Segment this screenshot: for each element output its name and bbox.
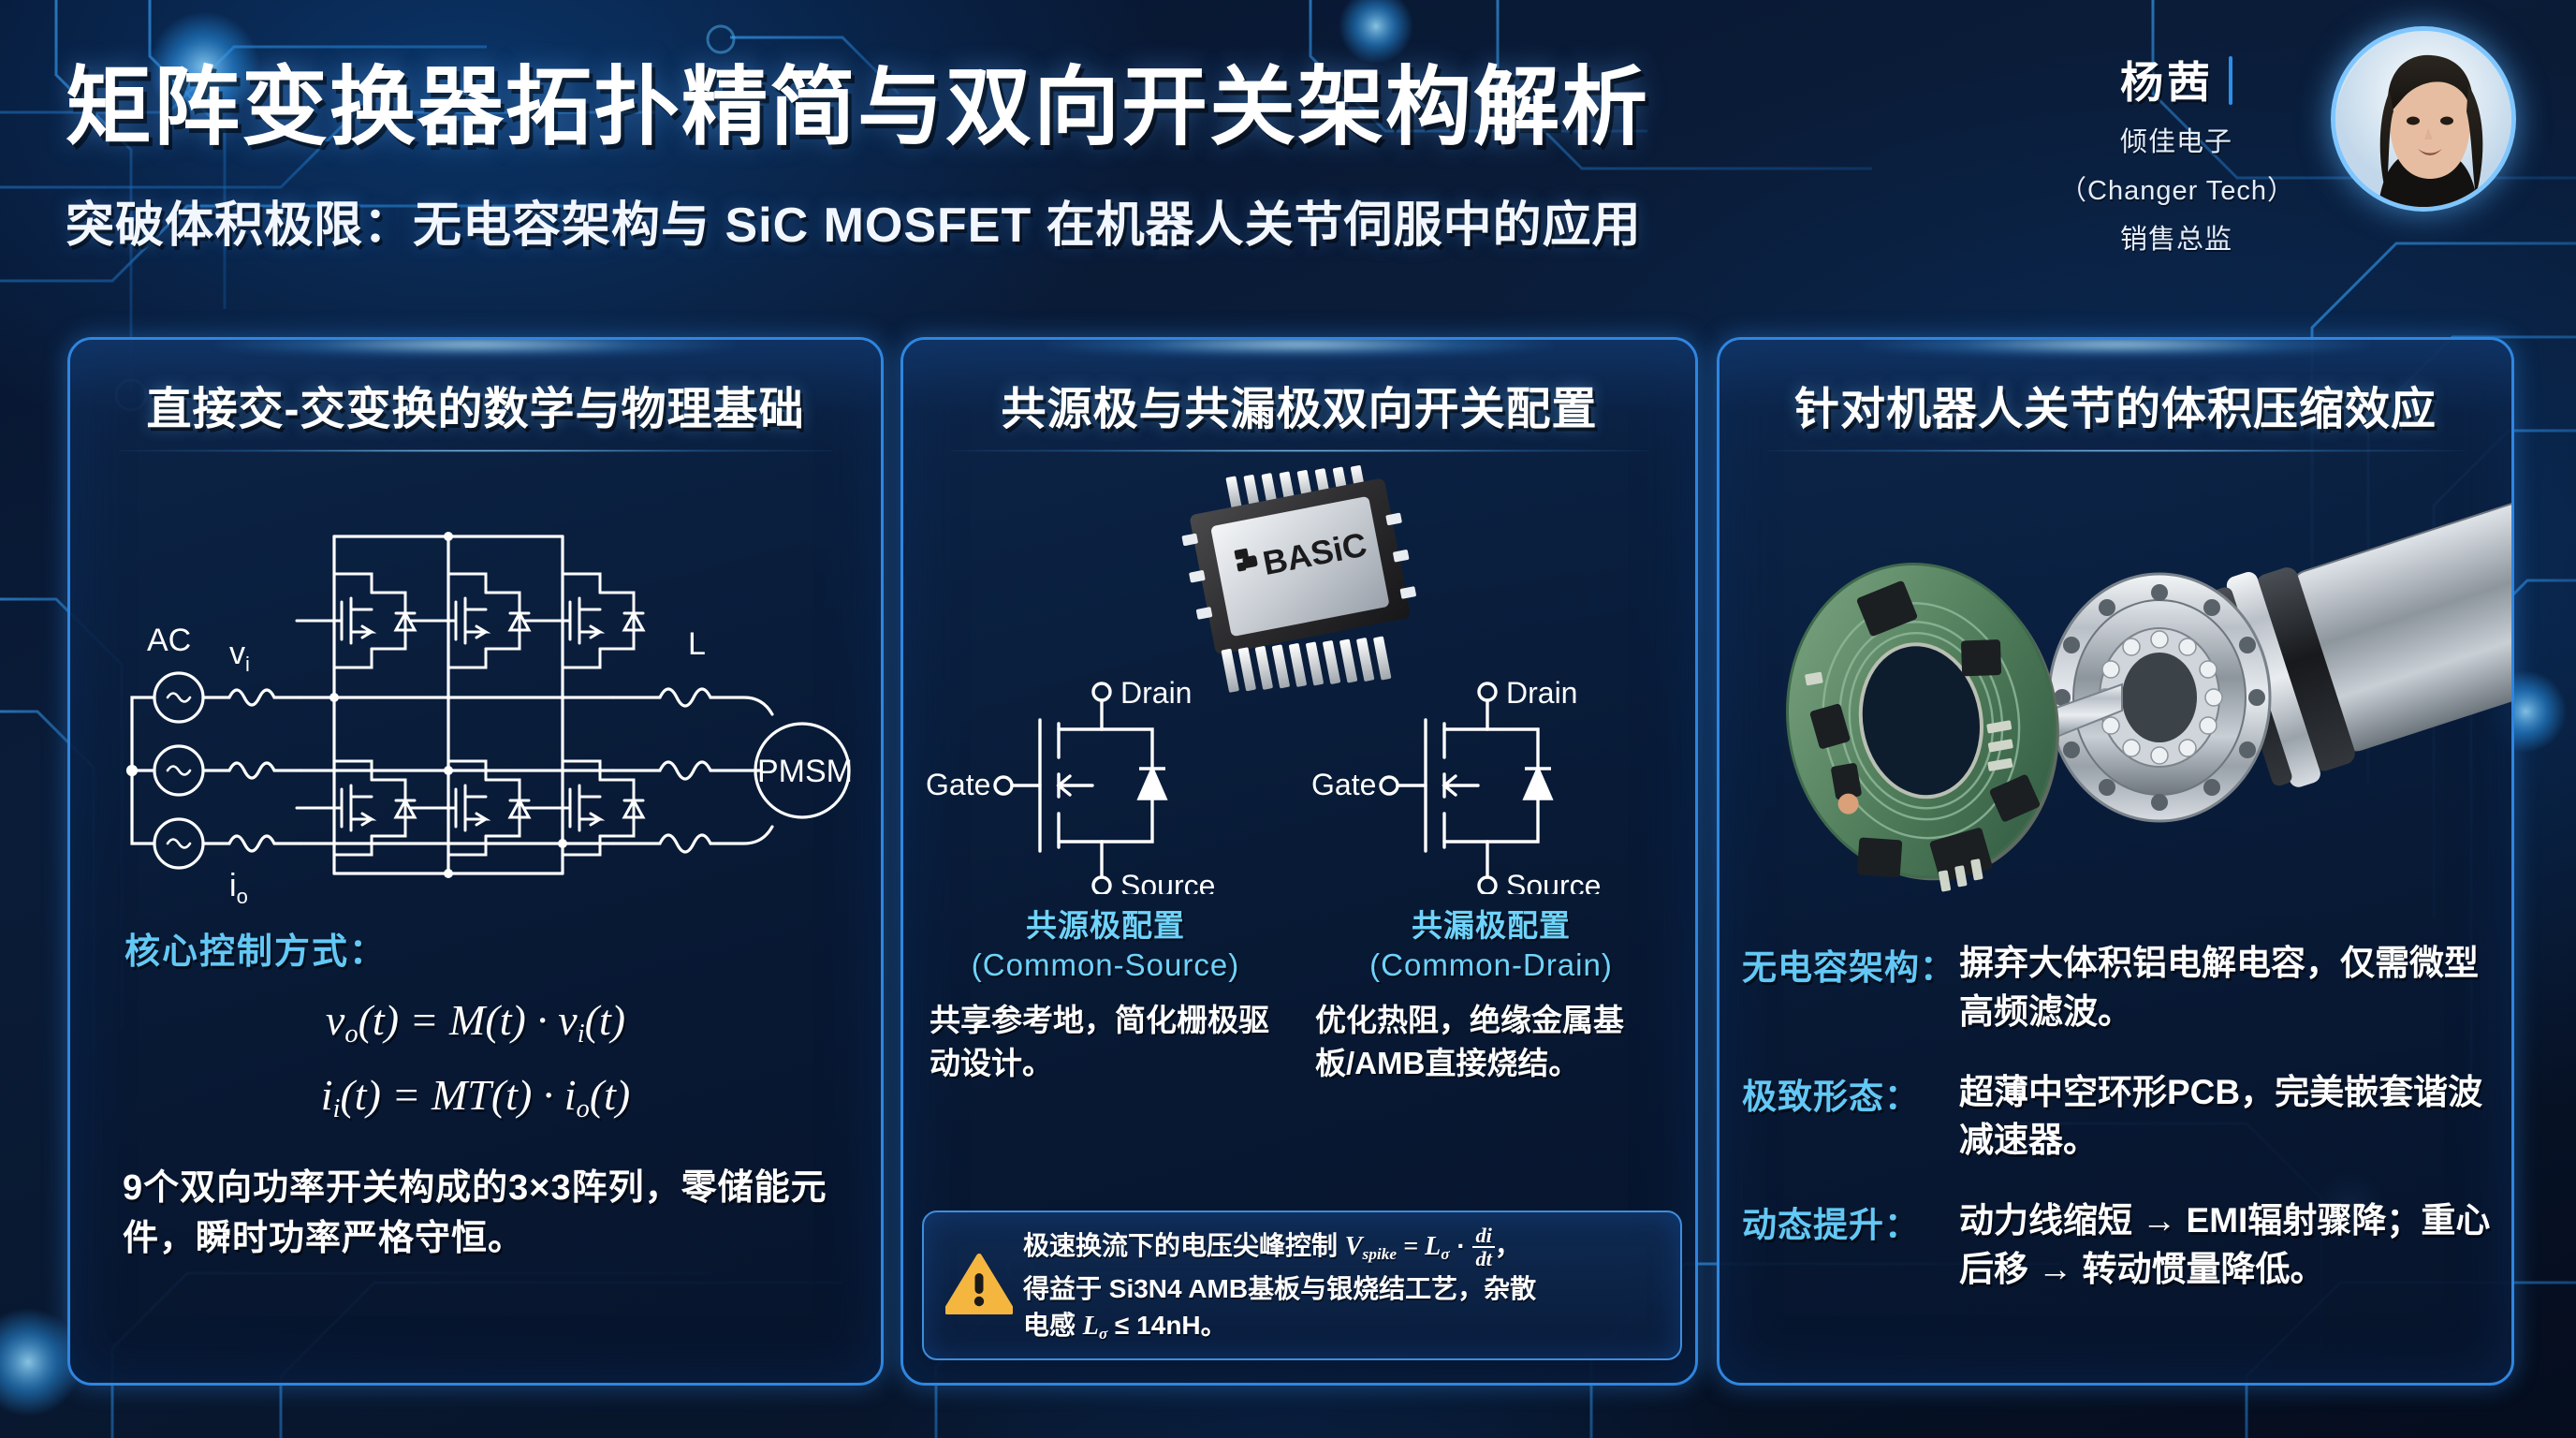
- mosfet-b-drain-label: Drain: [1506, 677, 1577, 710]
- author-name: 杨茜: [2120, 49, 2214, 110]
- panel-1-note: 9个双向功率开关构成的3×3阵列，零储能元件，瞬时功率严格守恒。: [123, 1164, 834, 1265]
- list-item: 动态提升： 动力线缩短 → EMI辐射骤降；重心后移 → 转动惯量降低。: [1742, 1196, 2506, 1294]
- formula-input-current: ii(t) = MT(t) · io(t): [70, 1070, 881, 1124]
- mosfet-a-source-label: Source: [1120, 869, 1215, 894]
- panel-direct-ac-ac: 直接交-交变换的数学与物理基础: [67, 337, 884, 1386]
- list-item: 无电容架构： 摒弃大体积铝电解电容，仅需微型高频滤波。: [1742, 939, 2506, 1036]
- mosfet-a-gate-label: Gate: [926, 768, 990, 801]
- panel-3-header: 针对机器人关节的体积压缩效应: [1720, 340, 2511, 460]
- mosfet-symbol-common-source: Drain Gate Source: [918, 677, 1293, 894]
- warning-callout: 极速换流下的电压尖峰控制 Vspike = Lσ · didt， 得益于 Si3…: [922, 1211, 1682, 1360]
- panel-2-title: 共源极与共漏极双向开关配置: [903, 372, 1695, 437]
- benefit-list: 无电容架构： 摒弃大体积铝电解电容，仅需微型高频滤波。 极致形态： 超薄中空环形…: [1742, 939, 2506, 1326]
- formula-output-voltage: vo(t) = M(t) · vi(t): [70, 995, 881, 1049]
- sic-power-module-image: BASiC: [1154, 460, 1448, 694]
- author-company-cn: 倾佳电子: [2059, 120, 2293, 159]
- circuit-label-pmsm: PMSM: [757, 754, 853, 789]
- benefit-key: 极致形态：: [1742, 1068, 1959, 1166]
- author-block: 杨茜 倾佳电子 （Changer Tech） 销售总监: [2059, 49, 2293, 257]
- mosfet-b-source-label: Source: [1506, 869, 1601, 894]
- list-item: 极致形态： 超薄中空环形PCB，完美嵌套谐波减速器。: [1742, 1068, 2506, 1166]
- benefit-value: 摒弃大体积铝电解电容，仅需微型高频滤波。: [1959, 939, 2506, 1036]
- mosfet-a-description: 共享参考地，简化栅极驱动设计。: [918, 999, 1293, 1084]
- benefit-value: 动力线缩短 → EMI辐射骤降；重心后移 → 转动惯量降低。: [1959, 1196, 2506, 1294]
- mosfet-common-source-block: Drain Gate Source 共源极配置 (Common-Source) …: [918, 677, 1293, 1084]
- mosfet-symbol-common-drain: Drain Gate Source: [1304, 677, 1678, 894]
- mosfet-b-gate-label: Gate: [1311, 768, 1376, 801]
- avatar: [2331, 26, 2516, 212]
- warning-triangle-icon: [939, 1253, 1019, 1319]
- author-role: 销售总监: [2059, 217, 2293, 257]
- benefit-key: 无电容架构：: [1742, 939, 1959, 1036]
- panel-3-title: 针对机器人关节的体积压缩效应: [1720, 372, 2511, 437]
- panel-1-header: 直接交-交变换的数学与物理基础: [70, 340, 881, 460]
- benefit-key: 动态提升：: [1742, 1196, 1959, 1294]
- page-title: 矩阵变换器拓扑精简与双向开关架构解析: [66, 37, 1649, 162]
- core-control-label: 核心控制方式：: [124, 922, 387, 974]
- panel-1-title: 直接交-交变换的数学与物理基础: [70, 372, 881, 437]
- mosfet-b-caption: 共漏极配置 (Common-Drain): [1304, 906, 1678, 984]
- robot-joint-assembly-image: [1729, 452, 2514, 939]
- panel-bidirectional-switch: 共源极与共漏极双向开关配置: [900, 337, 1698, 1386]
- mosfet-common-drain-block: Drain Gate Source 共漏极配置 (Common-Drain) 优…: [1304, 677, 1678, 1084]
- author-divider: [2229, 56, 2232, 105]
- mosfet-b-description: 优化热阻，绝缘金属基板/AMB直接烧结。: [1304, 999, 1678, 1084]
- matrix-converter-circuit-diagram: AC vi io L PMSM: [89, 480, 868, 930]
- panel-2-header: 共源极与共漏极双向开关配置: [903, 340, 1695, 460]
- page-subtitle: 突破体积极限：无电容架构与 SiC MOSFET 在机器人关节伺服中的应用: [66, 185, 1642, 256]
- warning-text: 极速换流下的电压尖峰控制 Vspike = Lσ · didt， 得益于 Si3…: [1019, 1225, 1665, 1346]
- circuit-label-io: io: [229, 868, 248, 908]
- avatar-portrait-icon: [2335, 31, 2516, 212]
- mosfet-a-drain-label: Drain: [1120, 677, 1192, 710]
- page-header: 矩阵变换器拓扑精简与双向开关架构解析 突破体积极限：无电容架构与 SiC MOS…: [0, 0, 2576, 309]
- mosfet-a-caption: 共源极配置 (Common-Source): [918, 906, 1293, 984]
- author-company-en: （Changer Tech）: [2059, 169, 2293, 208]
- benefit-value: 超薄中空环形PCB，完美嵌套谐波减速器。: [1959, 1068, 2506, 1166]
- circuit-label-l: L: [688, 626, 706, 662]
- panel-robot-joint-volume: 针对机器人关节的体积压缩效应: [1717, 337, 2514, 1386]
- circuit-label-ac: AC: [147, 623, 191, 658]
- circuit-label-vi: vi: [229, 636, 250, 676]
